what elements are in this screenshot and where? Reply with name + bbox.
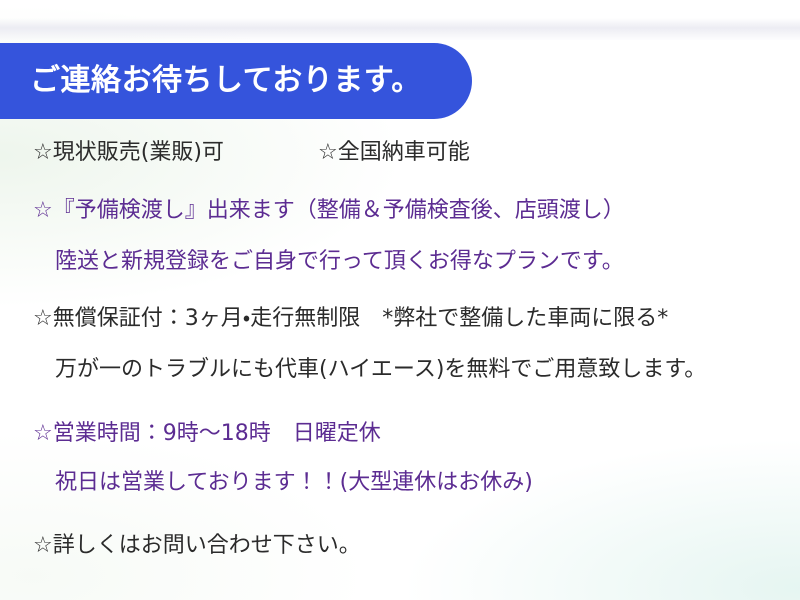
star-icon: ☆	[33, 533, 53, 558]
star-icon: ☆	[33, 140, 53, 165]
pre-inspection-line: ☆『予備検渡し』出来ます（整備＆予備検査後、店頭渡し）	[33, 200, 625, 222]
warranty-text: 無償保証付：3ヶ月・走行無制限 *弊社で整備した車両に限る*	[53, 306, 668, 331]
pre-inspection-detail-line: 陸送と新規登録をご自身で行って頂くお得なプランです。	[55, 251, 624, 273]
banner-title: ご連絡お待ちしております。	[0, 66, 422, 96]
warranty-detail-line: 万が一のトラブルにも代車(ハイエース)を無料でご用意致します。	[55, 359, 706, 381]
star-icon: ☆	[318, 140, 338, 165]
header-banner: ご連絡お待ちしております。	[0, 43, 472, 119]
business-hours-line: ☆営業時間：9時〜18時 日曜定休	[33, 423, 381, 445]
nationwide-delivery-text: 全国納車可能	[338, 140, 470, 165]
nationwide-delivery-line: ☆全国納車可能	[318, 142, 470, 164]
star-icon: ☆	[33, 306, 53, 331]
sales-condition-text: 現状販売(業販)可	[53, 140, 224, 165]
star-icon: ☆	[33, 421, 53, 446]
warranty-detail-text: 万が一のトラブルにも代車(ハイエース)を無料でご用意致します。	[55, 357, 706, 382]
top-divider-band	[0, 18, 800, 40]
sales-condition-line: ☆現状販売(業販)可	[33, 142, 224, 164]
holiday-note-text: 祝日は営業しております！！(大型連休はお休み)	[55, 470, 533, 495]
warranty-line: ☆無償保証付：3ヶ月・走行無制限 *弊社で整備した車両に限る*	[33, 308, 668, 330]
holiday-note-line: 祝日は営業しております！！(大型連休はお休み)	[55, 472, 533, 494]
pre-inspection-text: 『予備検渡し』出来ます（整備＆予備検査後、店頭渡し）	[53, 198, 625, 223]
star-icon: ☆	[33, 198, 53, 223]
contact-note-line: ☆詳しくはお問い合わせ下さい。	[33, 535, 361, 557]
contact-note-text: 詳しくはお問い合わせ下さい。	[53, 533, 361, 558]
business-hours-text: 営業時間：9時〜18時 日曜定休	[53, 421, 381, 446]
pre-inspection-detail-text: 陸送と新規登録をご自身で行って頂くお得なプランです。	[55, 249, 624, 274]
